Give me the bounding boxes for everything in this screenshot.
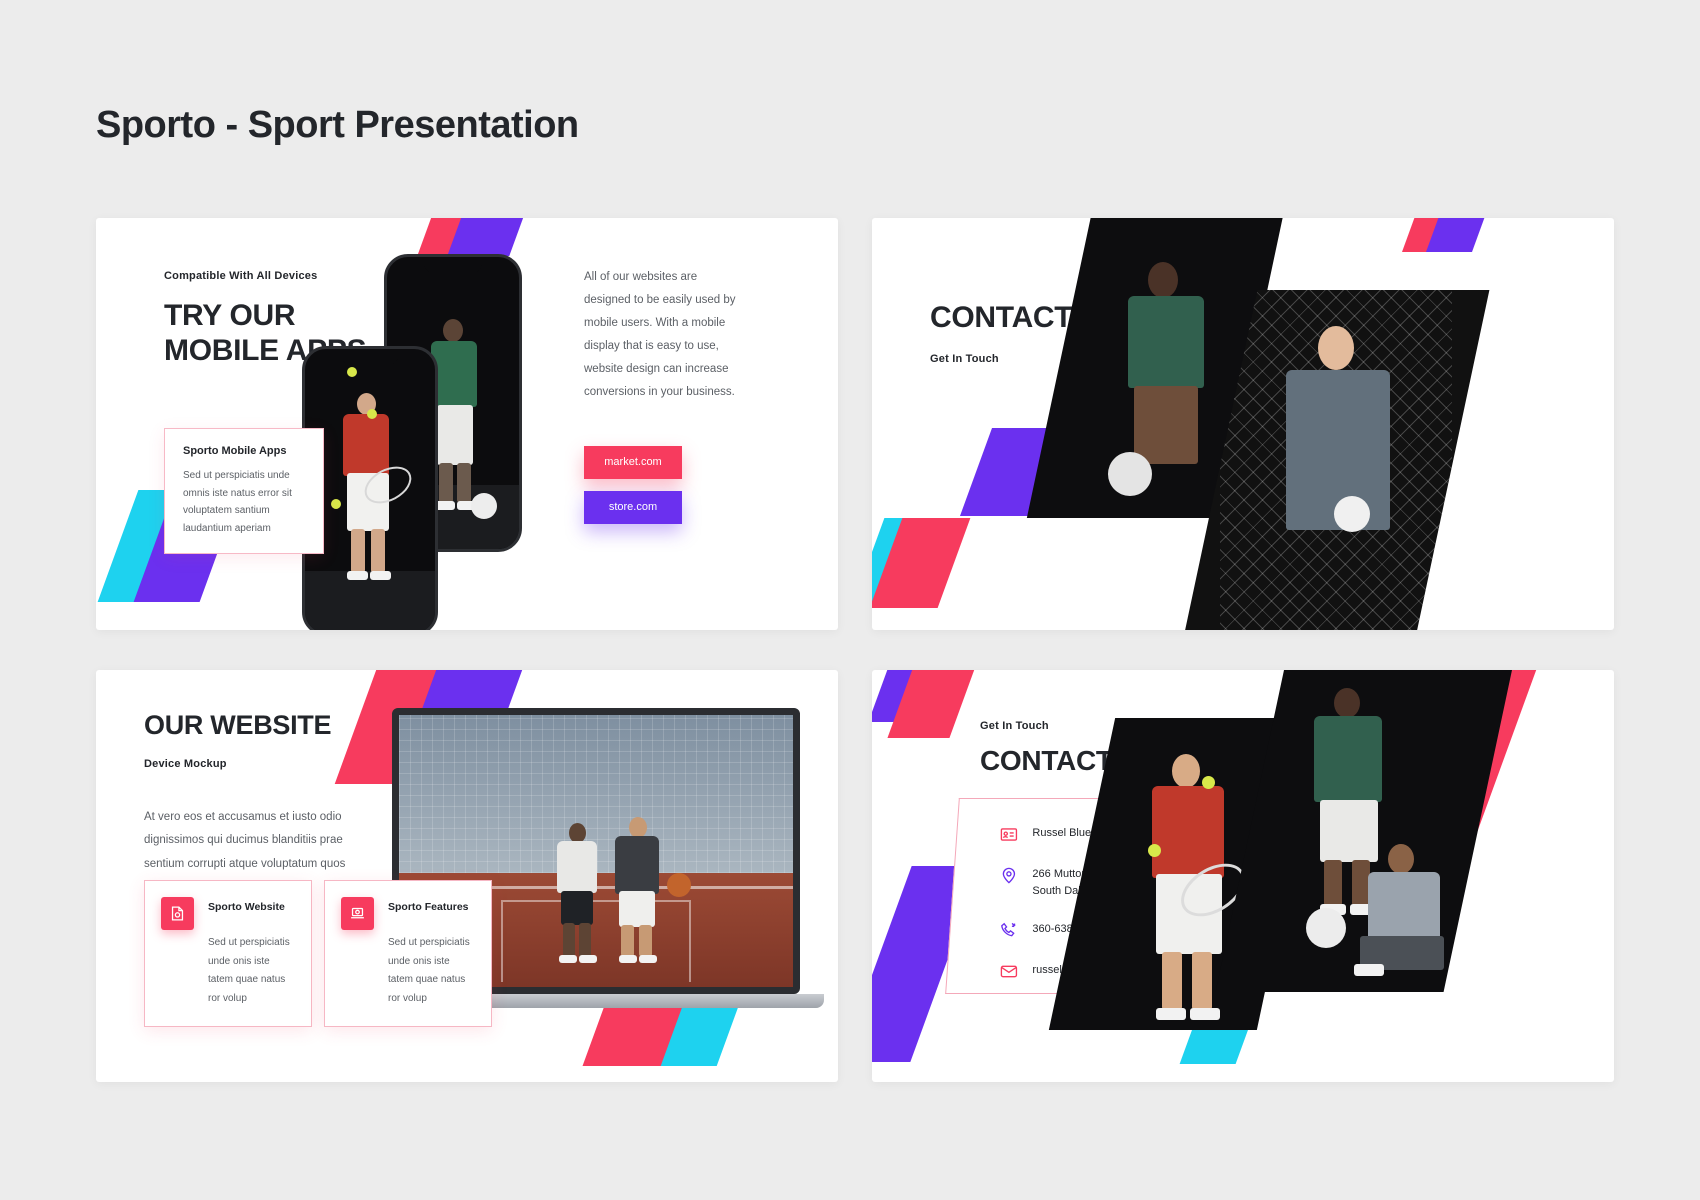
- tennis-ball-a: [1202, 776, 1215, 789]
- basketball: [667, 873, 691, 897]
- card-body: Sed ut perspiciatis unde omnis iste natu…: [183, 467, 305, 537]
- decor-shape-purple-top: [447, 218, 526, 256]
- sporto-mobile-apps-card[interactable]: Sporto Mobile Apps Sed ut perspiciatis u…: [164, 428, 324, 554]
- feature-body: Sed ut perspiciatis unde onis iste tatem…: [161, 934, 295, 1008]
- decor-shape-purple-top-2: [1426, 218, 1488, 252]
- tennis-ball-3: [331, 499, 341, 509]
- athlete-figure-tennis: [331, 393, 411, 623]
- basketball-player-2: [607, 817, 673, 973]
- phone-notch-back: [424, 257, 482, 273]
- feature-card-website[interactable]: Sporto Website Sed ut perspiciatis unde …: [144, 880, 312, 1027]
- slide2-headline: CONTACT: [930, 300, 1072, 335]
- slide3-headline: OUR WEBSITE: [144, 710, 354, 742]
- card-title: Sporto Mobile Apps: [183, 445, 305, 457]
- soccer-ball-4: [1306, 908, 1346, 948]
- slide1-eyebrow: Compatible With All Devices: [164, 270, 394, 282]
- feature-body: Sed ut perspiciatis unde onis iste tatem…: [341, 934, 475, 1008]
- slide-mobile-apps[interactable]: Compatible With All Devices TRY OUR MOBI…: [96, 218, 838, 630]
- store-com-button[interactable]: store.com: [584, 491, 682, 524]
- phone-notch-front: [341, 349, 398, 365]
- slide1-paragraph: All of our websites are designed to be e…: [584, 266, 744, 404]
- tennis-ball-1: [347, 367, 357, 377]
- slide-contact-photos[interactable]: CONTACT Get In Touch: [872, 218, 1614, 630]
- slide-our-website[interactable]: OUR WEBSITE Device Mockup At vero eos et…: [96, 670, 838, 1082]
- feature-title: Sporto Features: [388, 897, 469, 913]
- market-com-button[interactable]: market.com: [584, 446, 682, 479]
- feature-card-features[interactable]: Sporto Features Sed ut perspiciatis unde…: [324, 880, 492, 1027]
- slide4-subtitle: Get In Touch: [980, 720, 1113, 732]
- slide1-button-group[interactable]: market.com store.com: [584, 446, 744, 524]
- contact-card-icon: [999, 825, 1018, 844]
- feature-title: Sporto Website: [208, 897, 285, 913]
- basketball-player-1: [549, 823, 611, 973]
- page-title: Sporto - Sport Presentation: [96, 104, 579, 147]
- slide3-text-block: OUR WEBSITE Device Mockup At vero eos et…: [144, 710, 354, 900]
- features-laptop-icon: [341, 897, 374, 930]
- slide2-text-block: CONTACT Get In Touch: [930, 300, 1072, 365]
- tennis-ball-2: [367, 409, 377, 419]
- slide4-headline: CONTACT: [980, 744, 1113, 777]
- phone-icon: [999, 921, 1018, 940]
- email-icon: [999, 962, 1018, 981]
- slide1-headline-line1: TRY OUR: [164, 298, 394, 333]
- slide4-text-block: Get In Touch CONTACT: [980, 720, 1113, 777]
- contact-name: Russel Blue: [1032, 825, 1091, 842]
- slide1-right-block: All of our websites are designed to be e…: [584, 266, 744, 536]
- athlete-figure-keeper: [1276, 326, 1406, 626]
- location-pin-icon: [999, 866, 1018, 885]
- soccer-ball: [471, 493, 497, 519]
- slide3-subtitle: Device Mockup: [144, 758, 354, 770]
- athlete-figure-hoodie: [1114, 262, 1224, 502]
- athlete-figure-seated-4: [1354, 844, 1464, 992]
- website-document-icon: [161, 897, 194, 930]
- phone-photo-tennis: [305, 349, 435, 630]
- slide-contact-details[interactable]: Get In Touch CONTACT Russel Blue: [872, 670, 1614, 1082]
- tennis-ball-c: [1148, 844, 1161, 857]
- slide2-subtitle: Get In Touch: [930, 353, 1072, 365]
